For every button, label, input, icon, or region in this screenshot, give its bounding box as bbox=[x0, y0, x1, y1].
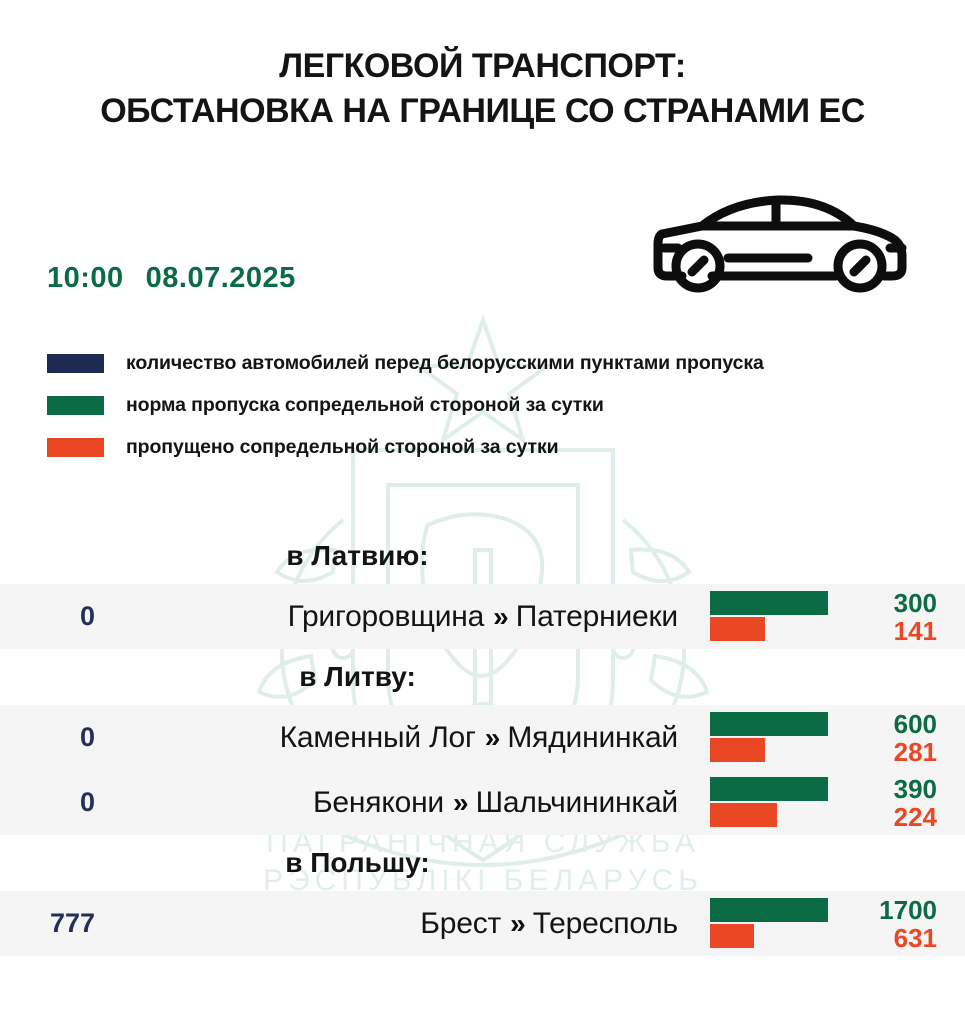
legend-item-queue: количество автомобилей перед белорусским… bbox=[47, 342, 764, 384]
car-icon bbox=[640, 186, 910, 298]
chevron-right-icon: » bbox=[453, 787, 467, 818]
route-label: Каменный Лог»Мядининкай bbox=[120, 721, 700, 755]
route-from: Григоровщина bbox=[288, 600, 485, 633]
value-group: 300 141 bbox=[850, 589, 965, 645]
timestamp-date: 08.07.2025 bbox=[146, 262, 296, 294]
chevron-right-icon: » bbox=[485, 722, 499, 753]
value-norm: 600 bbox=[850, 710, 937, 738]
value-group: 1700 631 bbox=[850, 896, 965, 952]
bar-passed bbox=[710, 738, 765, 762]
route-to: Шальчининкай bbox=[476, 786, 678, 819]
legend-label-queue: количество автомобилей перед белорусским… bbox=[126, 352, 764, 375]
value-norm: 300 bbox=[850, 589, 937, 617]
route-to: Патерниеки bbox=[516, 600, 678, 633]
route-label: Брест»Тересполь bbox=[120, 907, 700, 941]
route-to: Тересполь bbox=[533, 907, 678, 940]
value-passed: 631 bbox=[850, 924, 937, 952]
timestamp-time: 10:00 bbox=[47, 262, 124, 294]
legend-label-norm: норма пропуска сопредельной стороной за … bbox=[126, 394, 604, 417]
table-row: 0 Бенякони»Шальчининкай 390 224 bbox=[0, 770, 965, 835]
bar-group bbox=[700, 891, 850, 956]
bar-group bbox=[700, 584, 850, 649]
bar-group bbox=[700, 770, 850, 835]
legend-item-passed: пропущено сопредельной стороной за сутки bbox=[47, 426, 764, 468]
section-header-latvia: в Латвию: bbox=[0, 528, 965, 584]
value-passed: 281 bbox=[850, 738, 937, 766]
route-to: Мядининкай bbox=[507, 721, 678, 754]
border-crossing-table: в Латвию: 0 Григоровщина»Патерниеки 300 … bbox=[0, 528, 965, 956]
table-row: 777 Брест»Тересполь 1700 631 bbox=[0, 891, 965, 956]
route-label: Бенякони»Шальчининкай bbox=[120, 786, 700, 820]
section-header-poland-label: в Польшу: bbox=[285, 847, 429, 879]
bar-passed bbox=[710, 617, 765, 641]
page-title: ЛЕГКОВОЙ ТРАНСПОРТ: ОБСТАНОВКА НА ГРАНИЦ… bbox=[0, 44, 965, 134]
value-norm: 390 bbox=[850, 775, 937, 803]
value-group: 390 224 bbox=[850, 775, 965, 831]
queue-value: 0 bbox=[0, 722, 120, 753]
bar-norm bbox=[710, 712, 828, 736]
section-header-latvia-label: в Латвию: bbox=[286, 540, 428, 572]
queue-value: 777 bbox=[0, 908, 120, 939]
section-header-lithuania: в Литву: bbox=[0, 649, 965, 705]
route-from: Бенякони bbox=[313, 786, 444, 819]
queue-value: 0 bbox=[0, 787, 120, 818]
bar-passed bbox=[710, 924, 754, 948]
value-passed: 224 bbox=[850, 803, 937, 831]
route-label: Григоровщина»Патерниеки bbox=[120, 600, 700, 634]
legend-swatch-passed bbox=[47, 438, 104, 457]
bar-passed bbox=[710, 803, 777, 827]
chevron-right-icon: » bbox=[493, 601, 507, 632]
title-line-1: ЛЕГКОВОЙ ТРАНСПОРТ: bbox=[0, 44, 965, 89]
bar-norm bbox=[710, 777, 828, 801]
title-line-2: ОБСТАНОВКА НА ГРАНИЦЕ СО СТРАНАМИ ЕС bbox=[0, 89, 965, 134]
route-from: Брест bbox=[420, 907, 501, 940]
legend-item-norm: норма пропуска сопредельной стороной за … bbox=[47, 384, 764, 426]
queue-value: 0 bbox=[0, 601, 120, 632]
legend: количество автомобилей перед белорусским… bbox=[47, 342, 764, 468]
bar-group bbox=[700, 705, 850, 770]
route-from: Каменный Лог bbox=[280, 721, 476, 754]
timestamp: 10:0008.07.2025 bbox=[47, 262, 296, 295]
value-norm: 1700 bbox=[850, 896, 937, 924]
value-passed: 141 bbox=[850, 617, 937, 645]
bar-norm bbox=[710, 898, 828, 922]
section-header-poland: в Польшу: bbox=[0, 835, 965, 891]
legend-swatch-queue bbox=[47, 354, 104, 373]
section-header-lithuania-label: в Литву: bbox=[299, 661, 416, 693]
legend-swatch-norm bbox=[47, 396, 104, 415]
chevron-right-icon: » bbox=[510, 908, 524, 939]
table-row: 0 Григоровщина»Патерниеки 300 141 bbox=[0, 584, 965, 649]
legend-label-passed: пропущено сопредельной стороной за сутки bbox=[126, 436, 559, 459]
value-group: 600 281 bbox=[850, 710, 965, 766]
bar-norm bbox=[710, 591, 828, 615]
table-row: 0 Каменный Лог»Мядининкай 600 281 bbox=[0, 705, 965, 770]
